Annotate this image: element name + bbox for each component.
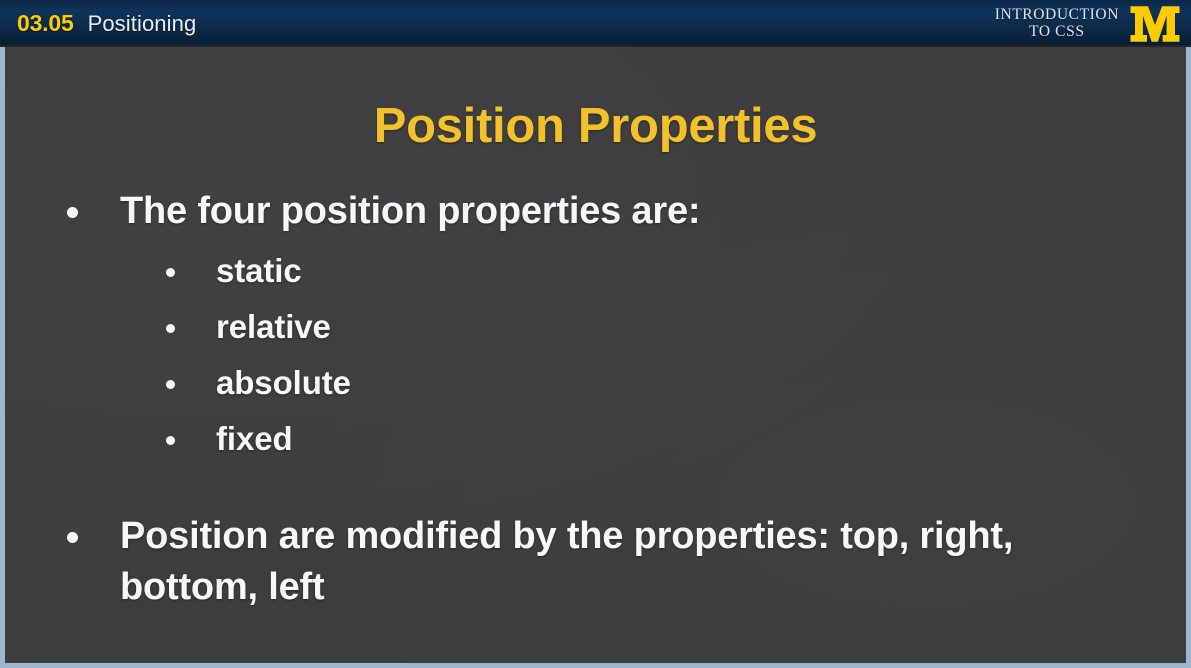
bullet-text: relative: [216, 307, 331, 347]
bullet-dot-icon: [67, 532, 78, 543]
michigan-block-m-logo-icon: [1129, 3, 1181, 45]
course-name-line-1: INTRODUCTION: [995, 7, 1119, 23]
bullet-dot-icon: [166, 436, 175, 445]
presentation-slide: 03.05 Positioning INTRODUCTION TO CSS Po…: [0, 0, 1191, 668]
bullet-dot-icon: [166, 324, 175, 333]
slide-number: 03.05: [17, 12, 74, 35]
bullet-text: static: [216, 251, 302, 291]
bullet-text: absolute: [216, 363, 351, 403]
course-name-label: INTRODUCTION TO CSS: [995, 7, 1119, 39]
bullet-dot-icon: [166, 268, 175, 277]
bullet-item-sub-fixed: fixed: [166, 419, 293, 459]
bullet-item-primary-2: Position are modified by the properties:…: [67, 511, 1087, 612]
slide-header-bar: 03.05 Positioning INTRODUCTION TO CSS: [0, 0, 1191, 47]
bullet-item-sub-absolute: absolute: [166, 363, 351, 403]
bullet-text: The four position properties are:: [120, 186, 700, 237]
bullet-item-sub-relative: relative: [166, 307, 331, 347]
course-name-line-2: TO CSS: [995, 24, 1119, 40]
bullet-text: fixed: [216, 419, 293, 459]
bullet-dot-icon: [166, 380, 175, 389]
slide-main-title: Position Properties: [5, 102, 1186, 151]
bullet-item-sub-static: static: [166, 251, 302, 291]
header-right-group: INTRODUCTION TO CSS: [995, 0, 1181, 47]
header-left-group: 03.05 Positioning: [17, 0, 196, 47]
bullet-text: Position are modified by the properties:…: [120, 511, 1087, 612]
bullet-item-primary-1: The four position properties are:: [67, 186, 967, 237]
bullet-dot-icon: [67, 207, 78, 218]
slide-topic-title: Positioning: [88, 13, 197, 35]
slide-content-area: Position Properties The four position pr…: [0, 47, 1191, 668]
